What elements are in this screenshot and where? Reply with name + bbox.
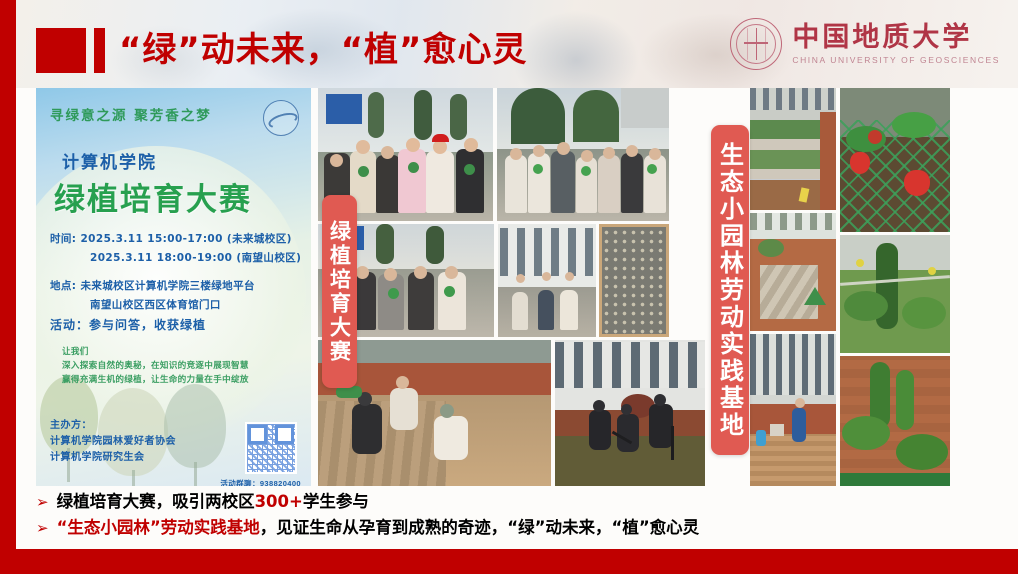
bullet-2-red: “生态小园林”劳动实践基地 [57,515,260,541]
poster-school-name: 计算机学院 [62,148,157,173]
bullet-arrow-icon: ➢ [36,489,49,515]
bullet-1-pre: 绿植培育大赛，吸引两校区 [57,489,255,515]
poster-slogan-line3: 赢得充满生机的绿植，让生命的力量在手中绽放 [62,372,303,386]
poster-time-row: 时间: 2025.3.11 15:00-17:00 (未来城校区) [50,230,303,249]
poster-activity: 活动：参与问答，收获绿植 [50,316,206,333]
poster-title: 绿植培育大赛 [54,174,252,219]
seal-cross-icon [744,42,768,44]
poster-time-label: 时间: [50,233,76,245]
poster-slogan-line1: 让我们 [62,344,303,358]
bullet-item-1: ➢ 绿植培育大赛，吸引两校区 300+ 学生参与 [36,489,996,515]
ribbon-eco-garden-base: 生态小园林劳动实践基地 [711,125,749,455]
poster-stem-decoration [132,470,135,486]
university-name-en: CHINA UNIVERSITY OF GEOSCIENCES [792,55,1000,65]
bullet-2-post: ，见证生命从孕育到成熟的奇迹，“绿”动未来，“植”愈心灵 [260,515,699,541]
page-title: “绿”动未来，“植”愈心灵 [119,26,527,74]
photo-digging-garden-bed [555,340,705,486]
photo-green-peppers [840,356,950,486]
poster-time-line1: 2025.3.11 15:00-17:00 (未来城校区) [80,233,291,245]
photo-student-watering-terrace [750,334,836,486]
computer-school-emblem-icon [263,100,299,136]
bullet-list: ➢ 绿植培育大赛，吸引两校区 300+ 学生参与 ➢ “生态小园林”劳动实践基地… [36,489,996,541]
poster-stem-decoration [194,462,197,486]
poster-qr-label: 活动群聊：938820400 [220,478,301,486]
photo-strawberries [840,88,950,232]
poster-slogan-line2: 深入探索自然的奥秘，在知识的竞逐中展现智慧 [62,358,303,372]
poster-place-line2: 南望山校区西区体育馆门口 [50,296,303,315]
bullet-1-post: 学生参与 [303,489,369,515]
slide-header: “绿”动未来，“植”愈心灵 中国地质大学 CHINA UNIVERSITY OF… [16,0,1018,88]
photo-cucumber-vine [840,235,950,353]
photo-terraced-garden-beds [750,88,836,210]
university-logo: 中国地质大学 CHINA UNIVERSITY OF GEOSCIENCES [730,16,1000,72]
red-bar-marker-icon [94,28,105,73]
poster-info-block: 时间: 2025.3.11 15:00-17:00 (未来城校区) 2025.3… [50,230,303,315]
photo-collage: 寻绿意之源 聚芳香之梦 计算机学院 绿植培育大赛 时间: 2025.3.11 1… [36,88,1002,486]
bullet-1-highlight: 300+ [255,489,303,515]
event-poster: 寻绿意之源 聚芳香之梦 计算机学院 绿植培育大赛 时间: 2025.3.11 1… [36,88,311,486]
bottom-red-bar [0,549,1018,574]
poster-organizer-1: 计算机学院园林爱好者协会 [50,434,176,450]
poster-place-label: 地点: [50,280,76,292]
qr-code-icon[interactable] [245,422,297,474]
university-logo-text: 中国地质大学 CHINA UNIVERSITY OF GEOSCIENCES [792,23,1000,65]
poster-organizers: 主办方： 计算机学院园林爱好者协会 计算机学院研究生会 [50,418,176,466]
bullet-item-2: ➢ “生态小园林”劳动实践基地 ，见证生命从孕育到成熟的奇迹，“绿”动未来，“植… [36,515,996,541]
poster-place-row: 地点: 未来城校区计算机学院三楼绿地平台 [50,277,303,296]
slide-page: “绿”动未来，“植”愈心灵 中国地质大学 CHINA UNIVERSITY OF… [16,0,1018,549]
university-seal-icon [730,18,782,70]
photo-group-photo-with-plants [497,88,669,221]
university-name-cn: 中国地质大学 [792,23,1000,53]
red-square-marker-icon [36,28,86,73]
poster-time-line2: 2025.3.11 18:00-19:00 (南望山校区) [50,249,303,268]
photo-seedling-tray [599,224,669,337]
slide-root: “绿”动未来，“植”愈心灵 中国地质大学 CHINA UNIVERSITY OF… [0,0,1018,574]
poster-place-line1: 未来城校区计算机学院三楼绿地平台 [80,280,254,292]
bullet-arrow-icon: ➢ [36,515,49,541]
ribbon-green-plant-contest: 绿植培育大赛 [322,195,357,388]
poster-slogan: 让我们 深入探索自然的奥秘，在知识的竞逐中展现智慧 赢得充满生机的绿植，让生命的… [62,344,303,386]
poster-organizer-label: 主办方： [50,418,176,434]
photo-campus-building-activity [498,224,596,337]
photo-garden-walkway [750,213,836,331]
poster-organizer-2: 计算机学院研究生会 [50,450,176,466]
